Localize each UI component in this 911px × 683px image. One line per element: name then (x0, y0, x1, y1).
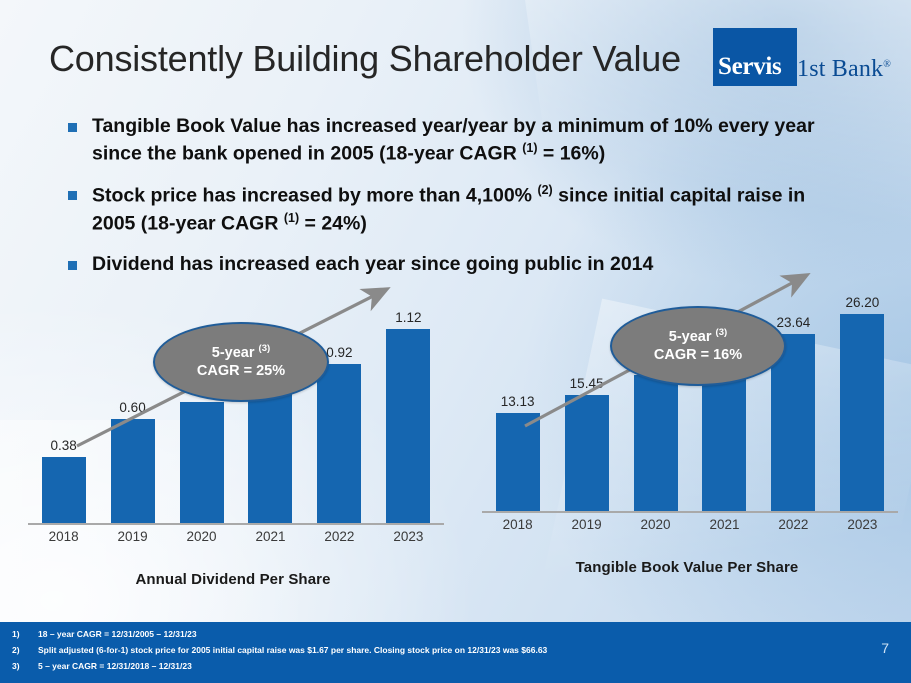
page-number: 7 (881, 640, 889, 656)
footnote-item: 3)5 – year CAGR = 12/31/2018 – 12/31/23 (12, 660, 812, 673)
registered-trademark-icon: ® (883, 59, 891, 70)
square-bullet-icon (68, 191, 77, 200)
footnote-ref: (3) (716, 327, 728, 338)
x-axis-line (482, 511, 898, 513)
logo-wordmark-text: 1st Bank (797, 56, 883, 82)
x-axis-tick-labels: 201820192020202120222023 (32, 529, 440, 551)
bullet-text-tail: = 24%) (299, 212, 367, 234)
callout-line-1: 5-year (3) (669, 327, 727, 346)
logo-servis-text: Servis (718, 53, 781, 81)
bar-rect (840, 314, 884, 511)
footnote-number: 3) (12, 660, 38, 673)
footnote-ref: (1) (284, 211, 299, 225)
callout-period: 5-year (212, 345, 259, 361)
x-axis-tick: 2021 (239, 529, 302, 551)
footnote-item: 1)18 – year CAGR = 12/31/2005 – 12/31/23 (12, 628, 812, 641)
bullet-text-tail: = 16%) (537, 142, 605, 164)
bullet-item-stock-price: Stock price has increased by more than 4… (68, 182, 858, 237)
footnote-text: 5 – year CAGR = 12/31/2018 – 12/31/23 (38, 660, 192, 673)
x-axis-tick: 2023 (377, 529, 440, 551)
x-axis-tick: 2019 (555, 517, 618, 539)
x-axis-tick: 2021 (693, 517, 756, 539)
callout-cagr-dividend: 5-year (3) CAGR = 25% (153, 322, 329, 402)
bullet-text: Stock price has increased by more than 4… (92, 182, 837, 237)
x-axis-tick: 2018 (32, 529, 95, 551)
x-axis-tick: 2020 (170, 529, 233, 551)
bullet-item-tangible-book-value: Tangible Book Value has increased year/y… (68, 114, 858, 167)
bar-item: 26.20 (831, 286, 894, 511)
slide-canvas: Consistently Building Shareholder Value … (0, 0, 911, 683)
x-axis-line (28, 523, 444, 525)
logo-wordmark: 1st Bank® (797, 56, 891, 83)
company-logo: Servis 1st Bank® (713, 28, 903, 88)
footnote-ref: (2) (537, 183, 552, 197)
footnote-ref: (3) (259, 343, 271, 354)
page-title: Consistently Building Shareholder Value (49, 38, 681, 80)
callout-line-1: 5-year (3) (212, 343, 270, 362)
x-axis-tick: 2022 (762, 517, 825, 539)
footnote-list: 1)18 – year CAGR = 12/31/2005 – 12/31/23… (12, 628, 812, 677)
x-axis-tick: 2018 (486, 517, 549, 539)
x-axis-tick: 2022 (308, 529, 371, 551)
callout-period: 5-year (669, 329, 716, 345)
chart-title: Annual Dividend Per Share (18, 571, 448, 588)
callout-cagr-tbv: 5-year (3) CAGR = 16% (610, 306, 786, 386)
x-axis-tick: 2020 (624, 517, 687, 539)
footnote-number: 1) (12, 628, 38, 641)
bar-value-label: 26.20 (845, 295, 879, 310)
square-bullet-icon (68, 261, 77, 270)
x-axis-tick: 2023 (831, 517, 894, 539)
bar-rect (42, 457, 86, 523)
bullet-text: Tangible Book Value has increased year/y… (92, 114, 837, 167)
footnote-item: 2)Split adjusted (6-for-1) stock price f… (12, 644, 812, 657)
footnote-number: 2) (12, 644, 38, 657)
bullet-text-lead: Stock price has increased by more than 4… (92, 185, 537, 207)
footnote-text: 18 – year CAGR = 12/31/2005 – 12/31/23 (38, 628, 197, 641)
x-axis-tick: 2019 (101, 529, 164, 551)
callout-line-2: CAGR = 25% (197, 362, 285, 381)
chart-title: Tangible Book Value Per Share (472, 559, 902, 576)
footnote-text: Split adjusted (6-for-1) stock price for… (38, 644, 547, 657)
footnote-ref: (1) (522, 141, 537, 155)
callout-line-2: CAGR = 16% (654, 346, 742, 365)
square-bullet-icon (68, 123, 77, 132)
footer-band: 1)18 – year CAGR = 12/31/2005 – 12/31/23… (0, 622, 911, 683)
x-axis-tick-labels: 201820192020202120222023 (486, 517, 894, 539)
bullet-text-lead: Tangible Book Value has increased year/y… (92, 115, 815, 164)
